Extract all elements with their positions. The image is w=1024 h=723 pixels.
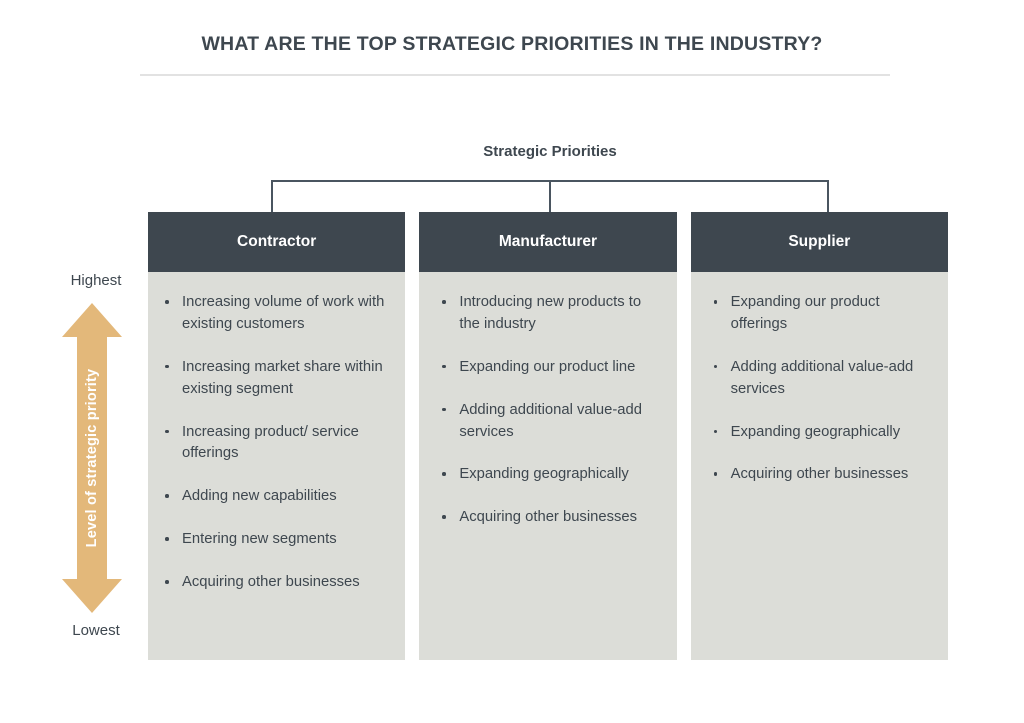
bracket-drop-center bbox=[549, 180, 551, 213]
column-header-manufacturer: Manufacturer bbox=[419, 212, 676, 272]
list-item-text: Introducing new products to the industry bbox=[459, 294, 641, 332]
bullet-icon bbox=[165, 494, 169, 498]
list-item: Increasing volume of work with existing … bbox=[164, 292, 385, 336]
list-item: Entering new segments bbox=[164, 529, 385, 551]
list-item: Increasing product/ service offerings bbox=[164, 422, 385, 466]
list-item: Acquiring other businesses bbox=[164, 572, 385, 594]
bullet-icon bbox=[714, 365, 718, 369]
priority-axis: Highest Level of strategic priority Lowe… bbox=[56, 272, 136, 650]
list-item-text: Expanding our product offerings bbox=[731, 294, 880, 332]
bullet-icon bbox=[442, 472, 446, 476]
column-body-supplier: Expanding our product offerings Adding a… bbox=[691, 272, 948, 660]
bullet-icon bbox=[165, 430, 169, 434]
list-item-text: Acquiring other businesses bbox=[182, 574, 360, 590]
priority-columns: Contractor Increasing volume of work wit… bbox=[148, 212, 948, 660]
list-item-text: Acquiring other businesses bbox=[731, 466, 909, 482]
axis-label-highest: Highest bbox=[56, 272, 136, 289]
bullet-icon bbox=[714, 430, 718, 434]
list-item-text: Increasing volume of work with existing … bbox=[182, 294, 384, 332]
list-item-text: Expanding geographically bbox=[459, 466, 628, 482]
list-item: Expanding geographically bbox=[441, 464, 656, 486]
priority-list-supplier: Expanding our product offerings Adding a… bbox=[713, 292, 928, 486]
bullet-icon bbox=[165, 580, 169, 584]
list-item-text: Expanding our product line bbox=[459, 359, 635, 375]
column-body-manufacturer: Introducing new products to the industry… bbox=[419, 272, 676, 660]
list-item: Introducing new products to the industry bbox=[441, 292, 656, 336]
list-item: Acquiring other businesses bbox=[441, 507, 656, 529]
list-item-text: Entering new segments bbox=[182, 531, 337, 547]
list-item: Adding additional value-add services bbox=[713, 357, 928, 401]
column-contractor: Contractor Increasing volume of work wit… bbox=[148, 212, 405, 660]
bullet-icon bbox=[714, 300, 718, 304]
list-item: Acquiring other businesses bbox=[713, 464, 928, 486]
bullet-icon bbox=[714, 472, 718, 476]
bullet-icon bbox=[165, 537, 169, 541]
list-item-text: Acquiring other businesses bbox=[459, 509, 637, 525]
bullet-icon bbox=[165, 365, 169, 369]
list-item: Expanding our product line bbox=[441, 357, 656, 379]
list-item: Adding new capabilities bbox=[164, 486, 385, 508]
axis-arrow-label: Level of strategic priority bbox=[84, 369, 100, 548]
page-title: WHAT ARE THE TOP STRATEGIC PRIORITIES IN… bbox=[0, 33, 1024, 56]
priority-list-contractor: Increasing volume of work with existing … bbox=[164, 292, 385, 594]
bullet-icon bbox=[442, 365, 446, 369]
double-arrow-icon: Level of strategic priority bbox=[56, 303, 128, 613]
bullet-icon bbox=[442, 515, 446, 519]
list-item-text: Adding additional value-add services bbox=[459, 402, 642, 440]
list-item: Adding additional value-add services bbox=[441, 400, 656, 444]
column-header-supplier: Supplier bbox=[691, 212, 948, 272]
title-divider bbox=[140, 74, 890, 76]
list-item-text: Increasing market share within existing … bbox=[182, 359, 383, 397]
bracket-drop-left bbox=[271, 180, 273, 213]
list-item-text: Expanding geographically bbox=[731, 424, 900, 440]
column-manufacturer: Manufacturer Introducing new products to… bbox=[419, 212, 676, 660]
group-label: Strategic Priorities bbox=[271, 143, 829, 160]
column-body-contractor: Increasing volume of work with existing … bbox=[148, 272, 405, 660]
bullet-icon bbox=[165, 300, 169, 304]
bullet-icon bbox=[442, 408, 446, 412]
axis-label-lowest: Lowest bbox=[56, 622, 136, 639]
list-item: Expanding geographically bbox=[713, 422, 928, 444]
grouping-bracket bbox=[271, 180, 829, 213]
list-item-text: Adding new capabilities bbox=[182, 488, 337, 504]
bracket-drop-right bbox=[827, 180, 829, 213]
list-item: Expanding our product offerings bbox=[713, 292, 928, 336]
priority-list-manufacturer: Introducing new products to the industry… bbox=[441, 292, 656, 529]
column-header-contractor: Contractor bbox=[148, 212, 405, 272]
list-item: Increasing market share within existing … bbox=[164, 357, 385, 401]
column-supplier: Supplier Expanding our product offerings… bbox=[691, 212, 948, 660]
list-item-text: Adding additional value-add services bbox=[731, 359, 914, 397]
list-item-text: Increasing product/ service offerings bbox=[182, 424, 359, 462]
bullet-icon bbox=[442, 300, 446, 304]
